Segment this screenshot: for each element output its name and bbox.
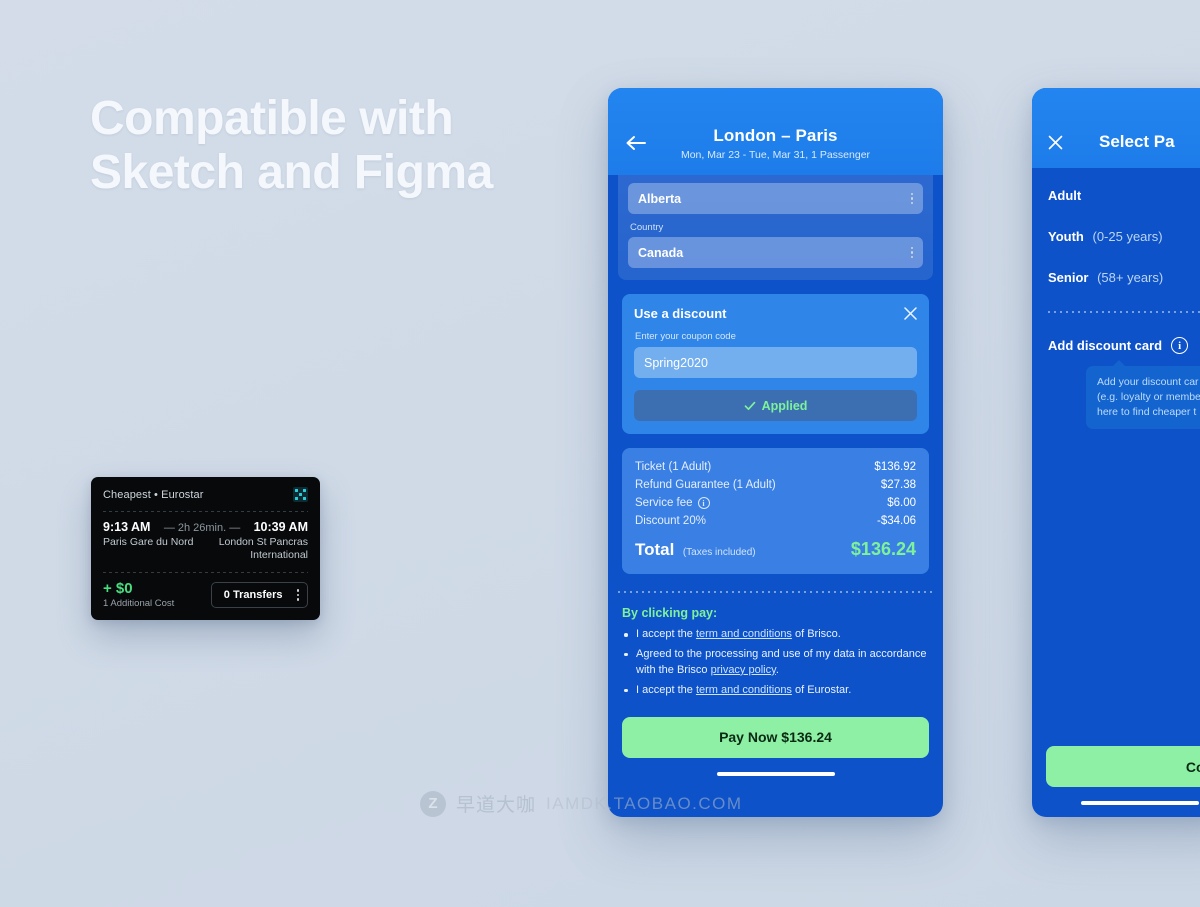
total-row: Total (Taxes included) $136.24 [635,539,916,560]
price-row-value: $136.92 [874,461,916,473]
country-field-label: Country [630,222,923,233]
watermark: Z 早道大咖 IAMDK.TAOBAO.COM [420,790,743,817]
country-field[interactable]: Canada [628,237,923,268]
term-text-pre: I accept the [636,628,696,640]
add-discount-card-row[interactable]: Add discount card i [1048,337,1200,354]
continue-button[interactable]: Con [1046,746,1200,787]
depart-station: Paris Gare du Nord [103,536,193,563]
info-icon[interactable]: i [1171,337,1188,354]
term-text-pre: I accept the [636,684,696,696]
watermark-english-text: IAMDK.TAOBAO.COM [546,794,743,814]
transfers-button[interactable]: 0 Transfers [211,582,308,608]
price-row-value: $6.00 [887,497,916,509]
discount-card: Use a discount Enter your coupon code Sp… [622,294,929,434]
phone-header: London – Paris Mon, Mar 23 - Tue, Mar 31… [608,88,943,175]
right-phone-footer: Con [1032,746,1200,817]
price-row-value: -$34.06 [877,515,916,527]
price-row: Refund Guarantee (1 Adult) $27.38 [635,479,916,491]
price-row-label: Discount 20% [635,515,706,527]
term-text-post: of Eurostar. [792,684,851,696]
trip-tag-label: Cheapest • Eurostar [103,489,204,501]
trip-duration: — 2h 26min. — [164,522,240,534]
passenger-type-youth[interactable]: Youth (0-25 years) [1048,229,1200,244]
terms-section: By clicking pay: I accept the term and c… [622,606,929,699]
trip-extra-cost: + $0 1 Additional Cost [103,581,174,609]
right-phone-title: Select Pa [1099,132,1175,152]
page-headline: Compatible with Sketch and Figma [90,92,493,200]
discount-title: Use a discount [634,306,726,321]
price-row: Service fee i $6.00 [635,497,916,509]
home-indicator [717,772,835,776]
watermark-logo: Z [420,791,446,817]
discount-card-header: Use a discount [634,306,917,321]
right-phone-screen: Select Pa Adult Youth (0-25 years) Senio… [1032,88,1200,817]
trip-divider-top [103,511,308,512]
passenger-name: Senior [1048,270,1088,285]
back-arrow-icon[interactable] [626,136,646,150]
transfers-label: 0 Transfers [224,589,283,601]
province-field[interactable]: Alberta [628,183,923,214]
price-row-label: Refund Guarantee (1 Adult) [635,479,776,491]
vertical-dots-icon[interactable] [911,193,914,205]
home-indicator [1081,801,1199,805]
discount-card-tooltip: Add your discount car (e.g. loyalty or m… [1086,366,1200,429]
passenger-name: Youth [1048,229,1084,244]
price-summary-card: Ticket (1 Adult) $136.92 Refund Guarante… [622,448,929,574]
price-row-label: Ticket (1 Adult) [635,461,711,473]
total-value: $136.24 [851,539,916,560]
trip-divider-bottom [103,572,308,573]
applied-button[interactable]: Applied [634,390,917,421]
right-phone-header: Select Pa [1032,88,1200,168]
qr-code-icon [293,487,308,502]
address-fields-block: Alberta Country Canada [618,175,933,280]
total-note: (Taxes included) [683,547,756,558]
arrive-station: London St Pancras International [212,536,308,563]
coupon-input-label: Enter your coupon code [635,331,917,342]
extra-price: + $0 [103,581,174,597]
watermark-chinese-text: 早道大咖 [456,790,536,817]
add-discount-card-label: Add discount card [1048,338,1162,353]
price-row: Ticket (1 Adult) $136.92 [635,461,916,473]
trip-times-row: 9:13 AM — 2h 26min. — 10:39 AM [103,520,308,534]
trip-card-header: Cheapest • Eurostar [103,487,308,502]
term-item: Agreed to the processing and use of my d… [622,647,929,679]
terms-title: By clicking pay: [622,606,929,620]
extra-cost-note: 1 Additional Cost [103,598,174,609]
term-item: I accept the term and conditions of Euro… [622,683,929,699]
terms-link[interactable]: term and conditions [696,684,792,696]
section-divider [618,591,933,593]
trip-result-card[interactable]: Cheapest • Eurostar 9:13 AM — 2h 26min. … [91,477,320,620]
info-icon[interactable]: i [698,497,710,509]
total-label-wrap: Total (Taxes included) [635,540,756,560]
vertical-dots-icon[interactable] [297,589,300,601]
price-row-label-wrap: Service fee i [635,497,710,509]
term-text-post: . [776,664,779,676]
total-label: Total [635,540,674,559]
term-item: I accept the term and conditions of Bris… [622,627,929,643]
trip-footer-row: + $0 1 Additional Cost 0 Transfers [103,581,308,609]
arrive-time: 10:39 AM [254,520,308,534]
price-row-label: Service fee [635,497,693,509]
passenger-type-senior[interactable]: Senior (58+ years) [1048,270,1200,285]
page-subtitle: Mon, Mar 23 - Tue, Mar 31, 1 Passenger [624,149,927,161]
applied-label: Applied [762,399,808,413]
trip-stations-row: Paris Gare du Nord London St Pancras Int… [103,536,308,563]
depart-time: 9:13 AM [103,520,150,534]
right-phone-body: Adult Youth (0-25 years) Senior (58+ yea… [1032,168,1200,429]
phone-body: Alberta Country Canada Use a discount En… [608,175,943,776]
coupon-input[interactable]: Spring2020 [634,347,917,378]
passenger-type-adult[interactable]: Adult [1048,188,1200,203]
right-phone-divider [1048,311,1200,313]
passenger-age: (58+ years) [1097,270,1163,285]
privacy-policy-link[interactable]: privacy policy [711,664,776,676]
center-phone-screen: London – Paris Mon, Mar 23 - Tue, Mar 31… [608,88,943,817]
term-text-pre: Agreed to the processing and use of my d… [636,648,926,676]
province-value: Alberta [638,192,681,206]
terms-link[interactable]: term and conditions [696,628,792,640]
pay-now-button[interactable]: Pay Now $136.24 [622,717,929,758]
passenger-age: (0-25 years) [1092,229,1162,244]
passenger-name: Adult [1048,188,1081,203]
page-title: London – Paris [624,126,927,146]
close-icon[interactable] [904,307,917,320]
country-value: Canada [638,246,683,260]
term-text-post: of Brisco. [792,628,841,640]
price-row-value: $27.38 [881,479,916,491]
close-icon[interactable] [1048,135,1063,150]
price-row: Discount 20% -$34.06 [635,515,916,527]
vertical-dots-icon[interactable] [911,247,914,259]
check-icon [744,400,756,412]
